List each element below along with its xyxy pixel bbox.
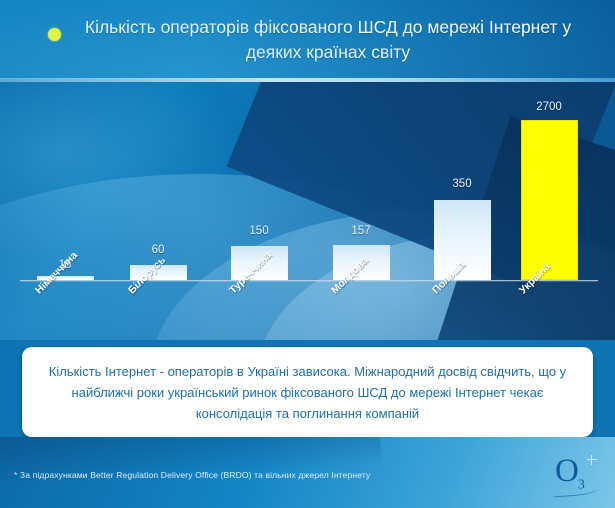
bar-value-2: 150 <box>224 225 294 237</box>
bar-5[interactable] <box>521 120 578 280</box>
slide-header: Кількість операторів фіксованого ШСД до … <box>0 0 615 79</box>
page-title: Кількість операторів фіксованого ШСД до … <box>78 15 578 65</box>
chart-area: 15 Німеччина 60 Білорусь 150 Туреччина 1… <box>0 82 615 340</box>
bar-value-3: 157 <box>326 225 396 237</box>
bar-value-5: 2700 <box>514 101 584 113</box>
bullet-dot-icon <box>48 28 61 41</box>
footnote-text: * За підрахунками Better Regulation Deli… <box>14 470 370 480</box>
slide-footer: * За підрахунками Better Regulation Deli… <box>0 437 615 508</box>
swoosh-icon <box>553 485 598 497</box>
bar-value-4: 350 <box>427 178 497 190</box>
chart-axis-line <box>20 280 598 281</box>
sparkle-icon <box>587 455 597 465</box>
callout-box: Кількість Інтернет - операторів в Україн… <box>22 347 593 437</box>
callout-text: Кількість Інтернет - операторів в Україн… <box>40 361 575 424</box>
o3-logo: O3 <box>555 454 603 500</box>
slide: Кількість операторів фіксованого ШСД до … <box>0 0 615 508</box>
logo-letter: O <box>555 453 578 489</box>
